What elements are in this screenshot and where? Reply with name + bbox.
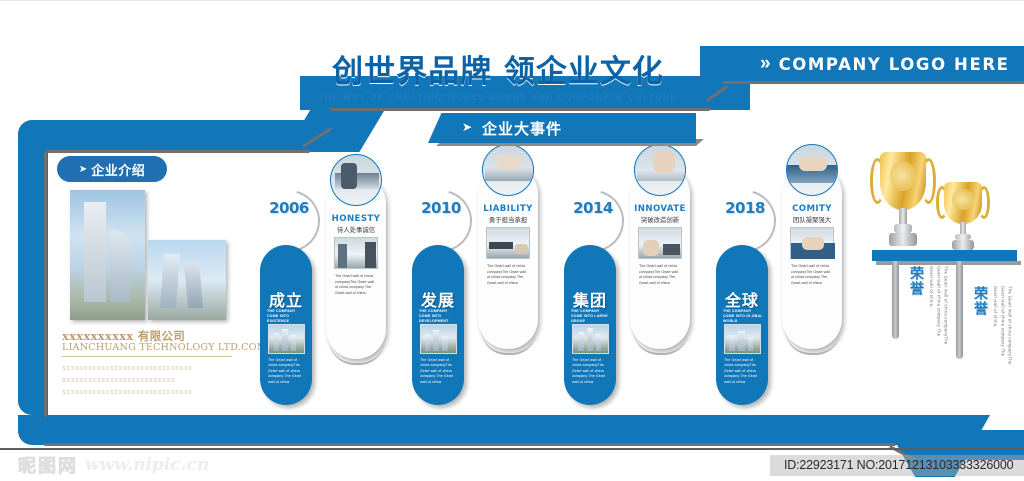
value-body: The Geart wall of china companyThe Geart… xyxy=(791,264,834,287)
honor-title: 荣誉 xyxy=(906,266,926,346)
year-label: 2014 xyxy=(562,199,624,217)
milestone-card[interactable]: 成立 THE COMPANY COME INTO EXISTENCE The G… xyxy=(260,245,312,405)
value-body: The Geart wall of china companyThe Geart… xyxy=(639,264,682,287)
year-label: 2018 xyxy=(714,199,776,217)
frame-bottom-bar xyxy=(18,415,898,445)
value-title-en: LIABILITY xyxy=(478,204,538,214)
honor-body: The Geart wall of china companyThe Geart… xyxy=(928,266,949,346)
year-badge: 2014 xyxy=(562,190,624,252)
intro-filler-line: xxxxxxxxxxxxxxxxxxxxxxxxxxxxxx xyxy=(62,388,192,396)
card-tail xyxy=(481,329,537,355)
value-card[interactable]: HONESTY 待人处事诚信 The Geart wall of china c… xyxy=(326,174,386,359)
milestone-title: 全球 xyxy=(716,287,768,311)
triangle-arrow-icon: ➤ xyxy=(79,164,87,175)
display-shelf xyxy=(872,250,1017,261)
milestone-subtitle: THE COMPANY COME INTO DEVELOPMENT xyxy=(419,309,459,325)
office-tower-photo xyxy=(70,190,145,320)
milestone-body: The Geart wall of china companyThe Geart… xyxy=(572,358,610,385)
header-title-block: 创世界品牌 领企业文化 THE WAY OF CREATING WORLD BR… xyxy=(318,56,678,102)
timeline-section: 2006 成立 THE COMPANY COME INTO EXISTENCE … xyxy=(250,150,860,410)
year-badge: 2010 xyxy=(410,190,472,252)
card-tail xyxy=(329,339,385,365)
watermark-url: www.nipic.cn xyxy=(85,455,209,475)
site-watermark: 昵图网 www.nipic.cn xyxy=(18,452,209,478)
milestone-photo xyxy=(268,324,305,354)
intro-section-label: 企业介绍 xyxy=(91,160,145,179)
milestone-card[interactable]: 全球 THE COMPANY COME INTO GLOBAL WORLD Th… xyxy=(716,245,768,405)
company-logo-placeholder[interactable]: » COMPANY LOGO HERE xyxy=(760,53,1010,75)
shelf-post xyxy=(892,261,899,339)
intro-filler-line: xxxxxxxxxxxxxxxxxxxxxxxxxx xyxy=(62,376,175,384)
divider xyxy=(62,356,232,357)
honor-title: 荣誉 xyxy=(970,286,990,366)
card-tail xyxy=(785,329,841,355)
twin-tower-photo xyxy=(148,240,226,320)
value-title-en: HONESTY xyxy=(326,214,386,224)
handshake-photo-icon xyxy=(330,154,382,206)
trophy-icon xyxy=(944,182,982,254)
honor-section: 荣誉 The Geart wall of china companyThe Ge… xyxy=(866,140,1016,380)
shelf-post xyxy=(956,261,963,359)
value-card[interactable]: INNOVATE 突破改造创新 The Geart wall of china … xyxy=(630,164,690,349)
milestone-body: The Geart wall of china companyThe Geart… xyxy=(724,358,762,385)
milestone-subtitle: THE COMPANY COME INTO EXISTENCE xyxy=(267,309,307,325)
honor-body: The Geart wall of china companyThe Geart… xyxy=(992,286,1013,366)
milestone-title: 成立 xyxy=(260,287,312,311)
card-tail xyxy=(633,329,689,355)
events-section-title: 企业大事件 xyxy=(482,118,562,139)
milestone-card[interactable]: 集团 THE COMPANY COME INTO LARGE GROUP The… xyxy=(564,245,616,405)
wall-design-canvas: 创世界品牌 领企业文化 THE WAY OF CREATING WORLD BR… xyxy=(0,0,1024,481)
intro-filler-line: xxxxxxxxxxxxxxxxxxxxxxxxxxxxxx xyxy=(62,364,192,372)
milestone-body: The Geart wall of china companyThe Geart… xyxy=(420,358,458,385)
milestone-title: 发展 xyxy=(412,287,464,311)
milestone-title: 集团 xyxy=(564,287,616,311)
value-title-cn: 待人处事诚信 xyxy=(326,225,386,234)
frame-top-left-bar xyxy=(18,120,308,152)
milestone-subtitle: THE COMPANY COME INTO GLOBAL WORLD xyxy=(723,309,763,325)
bottom-divider xyxy=(0,448,1024,450)
year-badge: 2006 xyxy=(258,190,320,252)
value-title-en: COMITY xyxy=(782,204,842,214)
milestone-subtitle: THE COMPANY COME INTO LARGE GROUP xyxy=(571,309,611,325)
honor-item[interactable]: 荣誉 The Geart wall of china companyThe Ge… xyxy=(970,286,1013,366)
laptop-photo-icon xyxy=(634,144,686,196)
page-title-en: THE WAY OF CREATING WORLD BRAND AND CORP… xyxy=(318,92,678,102)
top-divider xyxy=(0,0,1024,1)
value-body: The Geart wall of china companyThe Geart… xyxy=(487,264,530,287)
company-logo-text: COMPANY LOGO HERE xyxy=(779,55,1010,74)
value-card[interactable]: LIABILITY 勇于担当承担 The Geart wall of china… xyxy=(478,164,538,349)
milestone-photo xyxy=(724,324,761,354)
triangle-arrow-icon: ➤ xyxy=(462,120,472,134)
double-chevron-icon: » xyxy=(760,53,767,75)
honor-item[interactable]: 荣誉 The Geart wall of china companyThe Ge… xyxy=(906,266,949,346)
value-title-cn: 团队凝聚强大 xyxy=(782,215,842,224)
value-title-cn: 突破改造创新 xyxy=(630,215,690,224)
value-photo xyxy=(638,227,682,259)
year-label: 2010 xyxy=(410,199,472,217)
frame-edge-bottom xyxy=(44,443,896,446)
watermark-cn: 昵图网 xyxy=(18,452,78,478)
value-body: The Geart wall of china companyThe Geart… xyxy=(335,274,378,297)
milestone-body: The Geart wall of china companyThe Geart… xyxy=(268,358,306,385)
value-card[interactable]: COMITY 团队凝聚强大 The Geart wall of china co… xyxy=(782,164,842,349)
page-title-cn: 创世界品牌 领企业文化 xyxy=(318,56,678,89)
keyboard-photo-icon xyxy=(482,144,534,196)
frame-edge-5 xyxy=(722,81,1024,84)
value-title-en: INNOVATE xyxy=(630,204,690,214)
frame-edge-left xyxy=(44,152,47,417)
asset-id-text: ID:22923171 NO:20171213103333326000 xyxy=(784,458,1013,472)
value-photo xyxy=(334,237,378,269)
value-photo xyxy=(790,227,834,259)
intro-section-pill[interactable]: ➤ 企业介绍 xyxy=(57,156,167,182)
year-badge: 2018 xyxy=(714,190,776,252)
teamwork-hands-photo-icon xyxy=(786,144,838,196)
milestone-card[interactable]: 发展 THE COMPANY COME INTO DEVELOPMENT The… xyxy=(412,245,464,405)
milestone-photo xyxy=(420,324,457,354)
value-photo xyxy=(486,227,530,259)
year-label: 2006 xyxy=(258,199,320,217)
value-title-cn: 勇于担当承担 xyxy=(478,215,538,224)
trophy-icon xyxy=(880,152,926,252)
milestone-photo xyxy=(572,324,609,354)
frame-edge-3 xyxy=(330,108,710,111)
